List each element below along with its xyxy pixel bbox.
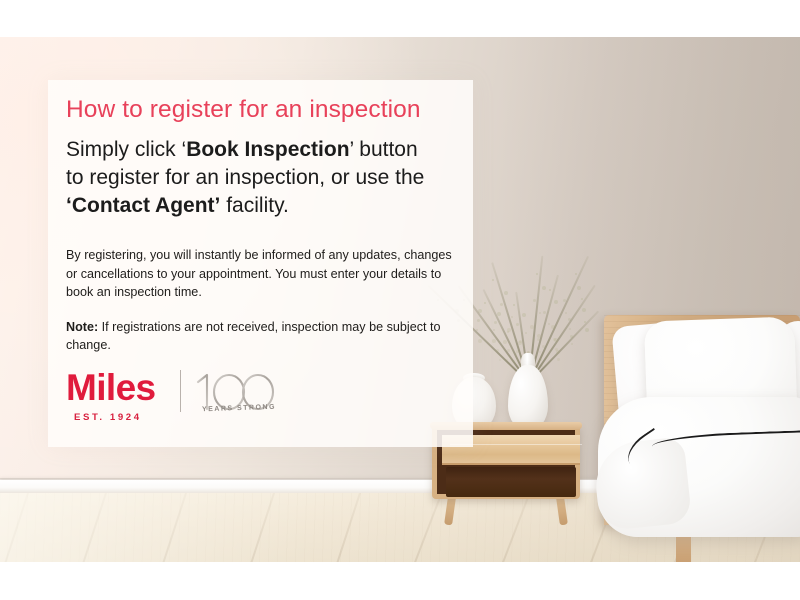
body-note: Note: If registrations are not received,… (66, 318, 452, 355)
branch-leaf (577, 286, 581, 290)
branch-leaf (477, 319, 480, 322)
branch-leaf (571, 343, 573, 345)
branch-leaf (556, 350, 560, 354)
letterbox-top (0, 0, 800, 37)
branch-leaf (484, 302, 486, 304)
branch-leaf (497, 312, 501, 316)
branch-leaf (513, 360, 515, 362)
branch-leaf (492, 279, 494, 281)
branch-leaf (549, 289, 551, 291)
branch-leaf (500, 303, 503, 306)
branch-leaf (478, 339, 482, 343)
branch-leaf (515, 353, 517, 355)
branch-leaf (492, 339, 496, 343)
branch-leaf (516, 323, 519, 326)
lead-line2: to register for an inspection, or use th… (66, 166, 424, 189)
branch-leaf (503, 340, 507, 344)
body-copy: By registering, you will instantly be in… (66, 246, 452, 355)
note-text: If registrations are not received, inspe… (66, 320, 441, 353)
branch-leaf (525, 332, 527, 334)
branch-leaf (507, 328, 511, 332)
lead-line1-prefix: Simply click ‘ (66, 138, 186, 161)
branch-leaf (569, 328, 571, 330)
nightstand-cubby (446, 467, 576, 497)
miles-logo: Miles EST. 1924 (66, 368, 286, 432)
branch-leaf (585, 328, 589, 332)
marketing-banner: How to register for an inspection Simply… (0, 0, 800, 600)
nightstand-leg-right (556, 497, 568, 526)
branch-leaf (557, 358, 560, 361)
branch-leaf (542, 286, 546, 290)
branch-leaf (565, 312, 567, 314)
lead-line3-suffix: facility. (220, 194, 288, 217)
lead-paragraph: Simply click ‘Book Inspection’ button to… (66, 136, 458, 220)
branch-leaf (513, 304, 515, 306)
branch-leaf (522, 313, 526, 317)
lead-line1-suffix: ’ button (350, 138, 418, 161)
branch-leaf (504, 291, 508, 295)
contact-agent-label: ‘Contact Agent’ (66, 194, 220, 217)
note-label: Note: (66, 320, 98, 334)
logo-wordmark: Miles (66, 368, 156, 408)
logo-established: EST. 1924 (74, 412, 142, 423)
branch-leaf (507, 349, 510, 352)
branch-leaf (539, 312, 541, 314)
branch-leaf (584, 321, 586, 323)
branch-leaf (536, 273, 538, 275)
branch-leaf (533, 299, 536, 302)
branch-leaf (537, 334, 541, 338)
branch-leaf (499, 359, 501, 361)
body-paragraph-1: By registering, you will instantly be in… (66, 246, 452, 302)
branch-leaf (582, 308, 586, 312)
branch-leaf (568, 318, 571, 321)
book-inspection-label: Book Inspection (186, 138, 349, 161)
page-title: How to register for an inspection (66, 96, 421, 124)
branch-leaf (548, 323, 550, 325)
branch-leaf (493, 329, 495, 331)
branch-leaf (506, 359, 508, 361)
branch-leaf (554, 300, 558, 304)
branch-leaf (476, 329, 478, 331)
branch-leaf (478, 309, 482, 313)
branch-leaf (496, 349, 499, 352)
nightstand-leg-left (444, 497, 456, 526)
branch-leaf (494, 321, 497, 324)
letterbox-bottom (0, 562, 800, 600)
info-panel: How to register for an inspection Simply… (48, 80, 473, 447)
branch-leaf (511, 316, 513, 318)
branch-leaf (518, 341, 522, 345)
logo-divider (180, 370, 181, 412)
